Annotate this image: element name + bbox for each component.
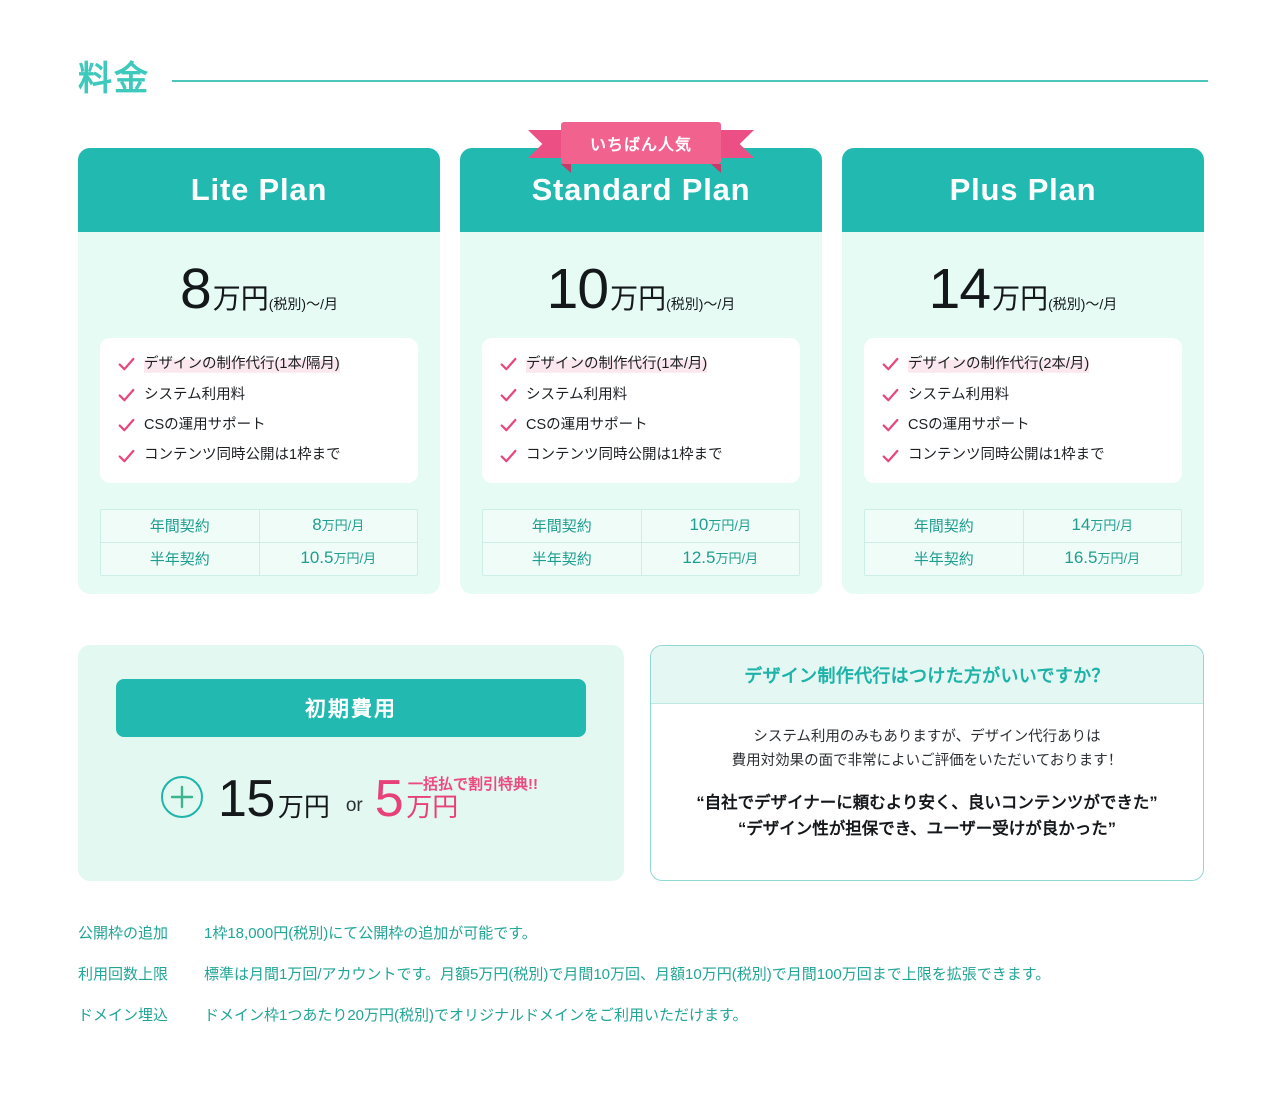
contract-value-number: 16.5 (1064, 548, 1097, 567)
price-unit: 万円 (213, 285, 269, 313)
faq-quote-1: “自社でデザイナーに頼むより安く、良いコンテンツができた” (671, 790, 1183, 816)
plan-header-plus: Plus Plan (842, 148, 1204, 232)
feature-label: システム利用料 (526, 387, 627, 404)
feature-list-standard: デザインの制作代行(1本/月) システム利用料 CSの運用サポート コンテンツ同… (482, 338, 800, 483)
contract-value: 10万円/月 (642, 510, 800, 542)
feature-item: デザインの制作代行(1本/隔月) (118, 356, 402, 373)
contract-value-unit: 万円/月 (715, 551, 758, 566)
contract-value-number: 10 (689, 515, 708, 534)
contract-table-plus: 年間契約 14万円/月 半年契約 16.5万円/月 (864, 509, 1182, 576)
contract-label: 半年契約 (483, 543, 642, 575)
feature-label: CSの運用サポート (526, 417, 648, 434)
note-label: 利用回数上限 (78, 963, 204, 984)
check-icon (882, 387, 899, 404)
feature-label: コンテンツ同時公開は1枠まで (908, 447, 1105, 464)
check-icon (118, 448, 135, 465)
amount-unit: 万円 (278, 794, 330, 820)
title-rule (172, 80, 1208, 82)
note-item: ドメイン埋込 ドメイン枠1つあたり20万円(税別)でオリジナルドメインをご利用い… (78, 1004, 1218, 1025)
discount-amount-unit: 万円 (406, 794, 458, 820)
section-header: 料金 (78, 52, 1208, 106)
initial-fee-label: 初期費用 (305, 693, 397, 723)
table-row: 年間契約 14万円/月 (865, 510, 1181, 542)
amount-or-label: or (346, 795, 363, 817)
footer-notes: 公開枠の追加 1枠18,000円(税別)にて公開枠の追加が可能です。 利用回数上… (78, 922, 1218, 1045)
faq-body: システム利用のみもありますが、デザイン代行ありは 費用対効果の面で非常によいご評… (651, 704, 1203, 843)
note-text: ドメイン枠1つあたり20万円(税別)でオリジナルドメインをご利用いただけます。 (204, 1004, 748, 1025)
check-icon (118, 387, 135, 404)
faq-header: デザイン制作代行はつけた方がいいですか？ (651, 646, 1203, 704)
plan-card-lite[interactable]: Lite Plan 8 万円 (税別)〜/月 デザインの制作代行(1本/隔月) … (78, 148, 440, 594)
plan-name: Standard Plan (532, 172, 751, 208)
table-row: 年間契約 8万円/月 (101, 510, 417, 542)
contract-label: 年間契約 (483, 510, 642, 542)
initial-fee-discount-amount: 5 万円 (375, 776, 458, 823)
feature-label: システム利用料 (144, 387, 245, 404)
check-icon (882, 448, 899, 465)
ribbon-fold-right (711, 164, 721, 173)
faq-body-line-2: 費用対効果の面で非常によいご評価をいただいております！ (671, 750, 1183, 774)
feature-item: デザインの制作代行(1本/月) (500, 356, 784, 373)
page-title: 料金 (78, 62, 150, 96)
plan-card-standard[interactable]: いちばん人気 Standard Plan 10 万円 (税別)〜/月 デザインの… (460, 148, 822, 594)
feature-item: システム利用料 (500, 387, 784, 404)
contract-table-standard: 年間契約 10万円/月 半年契約 12.5万円/月 (482, 509, 800, 576)
price-number: 14 (929, 262, 990, 316)
note-text: 標準は月間1万回/アカウントです。月額5万円(税別)で月間10万回、月額10万円… (204, 963, 1050, 984)
initial-fee-amounts: 15 万円 or 5 万円 (116, 775, 586, 823)
price-unit: 万円 (610, 285, 666, 313)
bottom-section: 初期費用 一括払で割引特典!! 15 万円 or 5 万円 (78, 645, 1204, 881)
feature-item: デザインの制作代行(2本/月) (882, 356, 1166, 373)
feature-item: CSの運用サポート (118, 417, 402, 434)
plus-circle-icon (160, 775, 204, 819)
faq-body-line-1: システム利用のみもありますが、デザイン代行ありは (671, 726, 1183, 750)
contract-value: 14万円/月 (1024, 510, 1182, 542)
price-unit: 万円 (992, 285, 1048, 313)
feature-label: コンテンツ同時公開は1枠まで (144, 447, 341, 464)
faq-quote-2: “デザイン性が担保でき、ユーザー受けが良かった” (671, 816, 1183, 842)
contract-value-unit: 万円/月 (1090, 518, 1133, 533)
price-tax-note: (税別)〜/月 (269, 297, 338, 311)
contract-value-number: 12.5 (682, 548, 715, 567)
price-number: 8 (180, 262, 211, 316)
contract-value-unit: 万円/月 (1097, 551, 1140, 566)
note-item: 利用回数上限 標準は月間1万回/アカウントです。月額5万円(税別)で月間10万回… (78, 963, 1218, 984)
initial-fee-box: 初期費用 一括払で割引特典!! 15 万円 or 5 万円 (78, 645, 624, 881)
contract-value-unit: 万円/月 (708, 518, 751, 533)
feature-item: システム利用料 (882, 387, 1166, 404)
discount-amount-number: 5 (375, 776, 403, 823)
contract-value: 16.5万円/月 (1024, 543, 1182, 575)
check-icon (882, 356, 899, 373)
plan-card-plus[interactable]: Plus Plan 14 万円 (税別)〜/月 デザインの制作代行(2本/月) … (842, 148, 1204, 594)
contract-value-unit: 万円/月 (322, 518, 365, 533)
plan-price-plus: 14 万円 (税別)〜/月 (842, 232, 1204, 338)
contract-label: 年間契約 (101, 510, 260, 542)
table-row: 半年契約 10.5万円/月 (101, 542, 417, 575)
plan-header-lite: Lite Plan (78, 148, 440, 232)
ribbon-label: いちばん人気 (590, 131, 692, 155)
plan-price-standard: 10 万円 (税別)〜/月 (460, 232, 822, 338)
feature-label: デザインの制作代行(2本/月) (908, 356, 1089, 373)
pricing-page: 料金 Lite Plan 8 万円 (税別)〜/月 デザインの制作代行(1本/隔… (0, 0, 1280, 1096)
contract-value: 12.5万円/月 (642, 543, 800, 575)
check-icon (118, 417, 135, 434)
contract-label: 半年契約 (865, 543, 1024, 575)
feature-label: コンテンツ同時公開は1枠まで (526, 447, 723, 464)
contract-label: 半年契約 (101, 543, 260, 575)
contract-table-lite: 年間契約 8万円/月 半年契約 10.5万円/月 (100, 509, 418, 576)
plan-card-list: Lite Plan 8 万円 (税別)〜/月 デザインの制作代行(1本/隔月) … (78, 148, 1204, 594)
feature-list-plus: デザインの制作代行(2本/月) システム利用料 CSの運用サポート コンテンツ同… (864, 338, 1182, 483)
feature-item: CSの運用サポート (882, 417, 1166, 434)
plan-name: Lite Plan (191, 172, 327, 208)
table-row: 半年契約 12.5万円/月 (483, 542, 799, 575)
feature-label: システム利用料 (908, 387, 1009, 404)
note-label: 公開枠の追加 (78, 922, 204, 943)
check-icon (118, 356, 135, 373)
check-icon (500, 387, 517, 404)
price-tax-note: (税別)〜/月 (666, 297, 735, 311)
contract-value-number: 8 (312, 515, 321, 534)
feature-label: CSの運用サポート (144, 417, 266, 434)
note-label: ドメイン埋込 (78, 1004, 204, 1025)
popular-ribbon: いちばん人気 (528, 122, 754, 164)
initial-fee-button[interactable]: 初期費用 (116, 679, 586, 737)
feature-item: コンテンツ同時公開は1枠まで (118, 447, 402, 464)
check-icon (882, 417, 899, 434)
ribbon-body: いちばん人気 (561, 122, 721, 164)
contract-value-number: 10.5 (300, 548, 333, 567)
table-row: 半年契約 16.5万円/月 (865, 542, 1181, 575)
initial-fee-standard-amount: 15 万円 (218, 776, 330, 823)
faq-testimonials: “自社でデザイナーに頼むより安く、良いコンテンツができた” “デザイン性が担保で… (671, 790, 1183, 843)
contract-label: 年間契約 (865, 510, 1024, 542)
contract-value-unit: 万円/月 (333, 551, 376, 566)
feature-label: デザインの制作代行(1本/月) (526, 356, 707, 373)
check-icon (500, 417, 517, 434)
feature-list-lite: デザインの制作代行(1本/隔月) システム利用料 CSの運用サポート コンテンツ… (100, 338, 418, 483)
table-row: 年間契約 10万円/月 (483, 510, 799, 542)
feature-item: システム利用料 (118, 387, 402, 404)
feature-label: デザインの制作代行(1本/隔月) (144, 356, 340, 373)
faq-box: デザイン制作代行はつけた方がいいですか？ システム利用のみもありますが、デザイン… (650, 645, 1204, 881)
price-number: 10 (547, 262, 608, 316)
check-icon (500, 448, 517, 465)
feature-item: CSの運用サポート (500, 417, 784, 434)
feature-item: コンテンツ同時公開は1枠まで (882, 447, 1166, 464)
plan-name: Plus Plan (950, 172, 1097, 208)
note-text: 1枠18,000円(税別)にて公開枠の追加が可能です。 (204, 922, 537, 943)
feature-item: コンテンツ同時公開は1枠まで (500, 447, 784, 464)
contract-value: 10.5万円/月 (260, 543, 418, 575)
amount-number: 15 (218, 776, 275, 823)
check-icon (500, 356, 517, 373)
feature-label: CSの運用サポート (908, 417, 1030, 434)
plan-price-lite: 8 万円 (税別)〜/月 (78, 232, 440, 338)
ribbon-fold-left (561, 164, 571, 173)
price-tax-note: (税別)〜/月 (1048, 297, 1117, 311)
contract-value-number: 14 (1071, 515, 1090, 534)
contract-value: 8万円/月 (260, 510, 418, 542)
faq-heading: デザイン制作代行はつけた方がいいですか？ (744, 662, 1109, 688)
note-item: 公開枠の追加 1枠18,000円(税別)にて公開枠の追加が可能です。 (78, 922, 1218, 943)
